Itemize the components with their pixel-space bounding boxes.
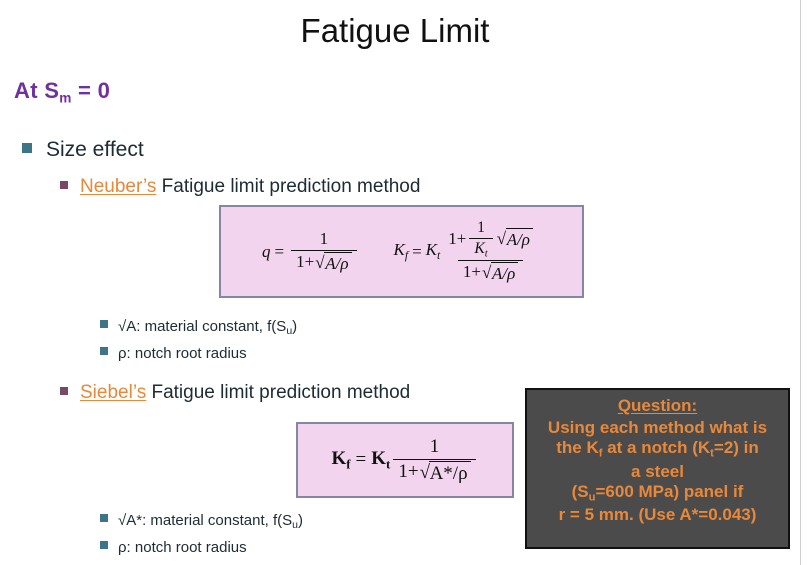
sqrt-icon: √A/ρ [315,252,351,274]
siebel-kt-k: K [371,448,386,469]
siebel-radicand: A*/ρ [429,461,471,485]
question-line-3: a steel [527,462,788,483]
neuber-q-den-one-plus: 1+ [296,252,314,271]
neuber-inner-fraction: 1 Kt [469,219,492,260]
siebel-fraction: 1 1+√A*/ρ [393,436,475,485]
bullet-square-icon [60,387,68,395]
slide-canvas: Fatigue Limit At Sm = 0 Size effect Neub… [0,0,811,565]
neuber-kf-symbol: Kf [394,240,409,262]
neuber-kt-subscript: t [437,250,440,263]
bullet-square-icon [22,143,32,153]
neuber-def-sqrtA-tail: ) [292,318,297,335]
radical-sign-icon: √ [497,229,506,251]
list-item: ρ: notch root radius [100,345,247,362]
question-line-2-a: the K [556,438,599,457]
neuber-q-radicand: A/ρ [324,252,351,274]
list-item: √A: material constant, f(Su) [100,318,297,337]
siebel-kf-symbol: Kf [331,448,350,473]
neuber-q-numerator: 1 [315,229,334,250]
siebel-def-sqrtAstar-symbol: √A* [118,512,142,529]
sqrt-icon: √A*/ρ [420,461,471,485]
neuber-kf-subscript: f [405,250,408,263]
question-title: Question: [527,396,788,417]
neuber-kf-equals: = [412,242,422,262]
neuber-q-fraction: 1 1+√A/ρ [291,229,356,274]
neuber-q-denominator: 1+√A/ρ [291,250,356,274]
siebel-formula-box: Kf = Kt 1 1+√A*/ρ [296,422,514,498]
bullet-siebel-method: Siebel’s Fatigue limit prediction method [60,382,410,404]
neuber-def-rho: ρ: notch root radius [118,345,247,362]
list-item: √A*: material constant, f(Su) [100,512,303,531]
question-line-2-b: at a notch (K [602,438,710,457]
neuber-q-equation: q = 1 1+√A/ρ [262,229,359,274]
neuber-kf-den-radicand: A/ρ [491,262,518,284]
bullet-size-effect: Size effect [22,138,144,162]
question-line-1: Using each method what is [527,418,788,439]
neuber-kf-fraction: 1+ 1 Kt √A/ρ 1+√A/ρ [443,219,538,285]
neuber-kf-denominator: 1+√A/ρ [458,260,523,284]
neuber-kt-symbol: Kt [426,240,441,262]
siebel-def-sqrtAstar: √A*: material constant, f(Su) [118,512,303,531]
siebel-def-rho-symbol: ρ [118,539,127,556]
neuber-q-equals: = [275,242,285,262]
neuber-kf-numerator: 1+ 1 Kt √A/ρ [443,219,538,261]
siebel-def-rho: ρ: notch root radius [118,539,247,556]
bullet-square-icon [60,181,68,189]
siebel-kf-k: K [331,448,346,469]
section-heading-suffix: = 0 [72,78,111,103]
siebel-kf-equation: Kf = Kt 1 1+√A*/ρ [331,436,478,485]
neuber-kt-k: K [426,240,437,259]
section-heading-subscript: m [59,90,71,105]
bullet-square-icon [100,514,108,522]
bullet-square-icon [100,347,108,355]
bullet-square-icon [100,320,108,328]
neuber-kf-equation: Kf = Kt 1+ 1 Kt √A/ρ [394,219,541,285]
neuber-inner-denominator: Kt [469,238,492,260]
question-line-2-c: =2) in [714,438,759,457]
question-line-4-b: =600 MPa) panel if [595,482,743,501]
neuber-def-sqrtA-text: : material constant, f(S [136,318,286,335]
siebel-def-sqrtAstar-text: : material constant, f(S [142,512,292,529]
neuber-kf-den-one-plus: 1+ [463,262,481,281]
neuber-def-sqrtA: √A: material constant, f(Su) [118,318,297,337]
neuber-q-symbol: q [262,242,271,262]
sqrt-icon: √A/ρ [482,262,518,284]
list-item: ρ: notch root radius [100,539,247,556]
neuber-def-rho-symbol: ρ [118,345,127,362]
question-line-4: (Su=600 MPa) panel if [527,482,788,505]
bullet-siebel-text: Siebel’s Fatigue limit prediction method [80,382,410,404]
neuber-def-rho-text: : notch root radius [127,345,247,362]
siebel-link[interactable]: Siebel’s [80,382,146,403]
bullet-neuber-method: Neuber’s Fatigue limit prediction method [60,176,420,198]
siebel-kt-subscript: t [386,456,390,471]
neuber-kf-num-one-plus: 1+ [448,229,466,249]
bullet-size-effect-label: Size effect [46,138,144,162]
radical-sign-icon: √ [482,263,491,285]
question-line-4-a: (S [572,482,589,501]
sqrt-icon: √A/ρ [497,228,533,250]
siebel-den-one-plus: 1+ [398,461,418,482]
siebel-denominator: 1+√A*/ρ [393,459,475,485]
radical-sign-icon: √ [315,253,324,275]
siebel-rest: Fatigue limit prediction method [146,382,410,403]
question-callout-box: Question: Using each method what is the … [525,388,790,549]
siebel-formula-content: Kf = Kt 1 1+√A*/ρ [331,436,478,485]
neuber-rest: Fatigue limit prediction method [156,176,420,197]
siebel-def-rho-text: : notch root radius [127,539,247,556]
question-line-5: r = 5 mm. (Use A*=0.043) [527,505,788,526]
question-line-2: the Kf at a notch (Kt=2) in [527,438,788,461]
neuber-kf-k: K [394,240,405,259]
siebel-kt-symbol: Kt [371,448,390,473]
siebel-numerator: 1 [425,436,445,459]
neuber-kf-num-radicand: A/ρ [506,228,533,250]
neuber-inner-numerator: 1 [472,219,490,238]
neuber-formula-box: q = 1 1+√A/ρ Kf = Kt 1+ [219,205,584,298]
siebel-equals: = [356,449,367,471]
bullet-neuber-text: Neuber’s Fatigue limit prediction method [80,176,420,198]
page-title: Fatigue Limit [0,12,790,50]
neuber-formula-content: q = 1 1+√A/ρ Kf = Kt 1+ [262,219,541,285]
section-heading-prefix: At S [14,78,59,103]
neuber-inner-kt-subscript: t [485,248,488,259]
bullet-square-icon [100,541,108,549]
neuber-link[interactable]: Neuber’s [80,176,156,197]
slide-right-rule [800,0,801,565]
neuber-def-sqrtA-symbol: √A [118,318,136,335]
neuber-inner-kt-k: K [474,240,484,257]
siebel-def-sqrtAstar-tail: ) [298,512,303,529]
siebel-kf-subscript: f [346,456,350,471]
section-heading: At Sm = 0 [14,78,110,105]
radical-sign-icon: √ [420,462,429,486]
